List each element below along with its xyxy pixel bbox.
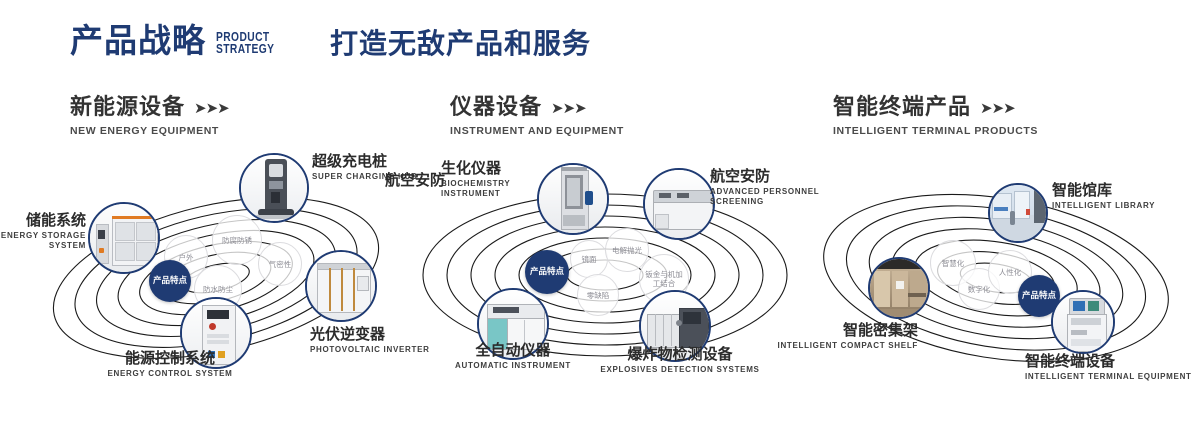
section-title-cn: 仪器设备 — [450, 96, 542, 120]
caption-intelligent-terminal-equipment: 智能终端设备 INTELLIGENT TERMINAL EQUIPMENT — [1025, 353, 1200, 382]
node-super-charging-hub[interactable] — [239, 153, 309, 223]
section-title-new-energy: 新能源设备 ➤➤➤ NEW ENERGY EQUIPMENT — [70, 96, 229, 137]
caption-cn: 智能馆库 — [1052, 182, 1182, 199]
caption-en: INTELLIGENT LIBRARY — [1052, 201, 1182, 211]
caption-en: ENERGY CONTROL SYSTEM — [75, 369, 265, 379]
caption-en: INTELLIGENT TERMINAL EQUIPMENT — [1025, 372, 1200, 382]
diagram-intelligent-terminal: 智慧化 数字化 人性化 产品特点 智能馆库 INTELLIGENT LIBRAR… — [800, 150, 1200, 410]
node-advanced-personnel-screening[interactable] — [643, 168, 715, 240]
page-subtitle: 打造无敌产品和服务 — [330, 30, 591, 58]
caption-cn: 生化仪器 — [441, 160, 537, 177]
feature-bubble: 零缺陷 — [577, 274, 619, 316]
node-energy-storage-system[interactable] — [88, 202, 160, 274]
section-title-en: INSTRUMENT AND EQUIPMENT — [450, 125, 624, 137]
page-header: 产品战略 PRODUCT STRATEGY — [70, 24, 287, 57]
caption-en: BIOCHEMISTRY INSTRUMENT — [441, 179, 537, 199]
node-biochemistry-instrument[interactable] — [537, 163, 609, 235]
section-title-en: INTELLIGENT TERMINAL PRODUCTS — [833, 125, 1038, 137]
node-intelligent-terminal-equipment[interactable] — [1051, 290, 1115, 354]
caption-en: AUTOMATIC INSTRUMENT — [423, 361, 603, 371]
section-title-intelligent-terminal: 智能终端产品 ➤➤➤ INTELLIGENT TERMINAL PRODUCTS — [833, 96, 1038, 137]
caption-biochemistry-instrument: 生化仪器 BIOCHEMISTRY INSTRUMENT — [441, 160, 537, 199]
section-title-en: NEW ENERGY EQUIPMENT — [70, 125, 229, 137]
page-title-en-line2: STRATEGY — [216, 43, 274, 55]
caption-cn: 储能系统 — [0, 212, 86, 229]
page-title: 产品战略 — [70, 24, 206, 57]
section-title-instrument: 仪器设备 ➤➤➤ INSTRUMENT AND EQUIPMENT — [450, 96, 624, 137]
node-intelligent-compact-shelf[interactable] — [868, 257, 930, 319]
caption-cn: 爆炸物检测设备 — [590, 346, 770, 363]
diagram-instrument: 镜面 电解抛光 零缺陷 钣金与机加工结合 产品特点 生化仪器 BIOCHEMIS… — [405, 150, 805, 410]
caption-energy-control-system: 能源控制系统 ENERGY CONTROL SYSTEM — [75, 350, 265, 379]
page-title-en: PRODUCT STRATEGY — [216, 31, 274, 55]
caption-aviation-security-left: 航空安防 — [355, 172, 445, 189]
caption-cn: 智能终端设备 — [1025, 353, 1200, 370]
node-intelligent-library[interactable] — [988, 183, 1048, 243]
feature-bubble: 镜面 — [570, 240, 608, 278]
caption-en: INTELLIGENT COMPACT SHELF — [758, 341, 918, 351]
section-title-cn: 新能源设备 — [70, 96, 185, 120]
feature-bubble: 防腐防锈 — [212, 215, 262, 265]
caption-intelligent-compact-shelf: 智能密集架 INTELLIGENT COMPACT SHELF — [758, 322, 918, 351]
caption-explosives-detection-system: 爆炸物检测设备 EXPLOSIVES DETECTION SYSTEMS — [590, 346, 770, 375]
caption-cn: 能源控制系统 — [75, 350, 265, 367]
caption-energy-storage-system: 储能系统 ENERGY STORAGE SYSTEM — [0, 212, 86, 251]
chevron-right-icon: ➤➤➤ — [980, 101, 1015, 116]
product-strategy-infographic: 产品战略 PRODUCT STRATEGY 打造无敌产品和服务 新能源设备 ➤➤… — [0, 0, 1200, 422]
caption-en: ENERGY STORAGE SYSTEM — [0, 231, 86, 251]
caption-cn: 全自动仪器 — [423, 342, 603, 359]
caption-en: EXPLOSIVES DETECTION SYSTEMS — [590, 365, 770, 375]
chevron-right-icon: ➤➤➤ — [194, 101, 229, 116]
feature-bubble: 气密性 — [258, 242, 302, 286]
chevron-right-icon: ➤➤➤ — [551, 101, 586, 116]
section-title-cn: 智能终端产品 — [833, 96, 971, 120]
node-photovoltaic-inverter[interactable] — [305, 250, 377, 322]
core-bubble-product-features: 产品特点 — [525, 250, 569, 294]
caption-automatic-instrument: 全自动仪器 AUTOMATIC INSTRUMENT — [423, 342, 603, 371]
caption-cn: 航空安防 — [355, 172, 445, 189]
caption-cn: 智能密集架 — [758, 322, 918, 339]
caption-intelligent-library: 智能馆库 INTELLIGENT LIBRARY — [1052, 182, 1182, 211]
